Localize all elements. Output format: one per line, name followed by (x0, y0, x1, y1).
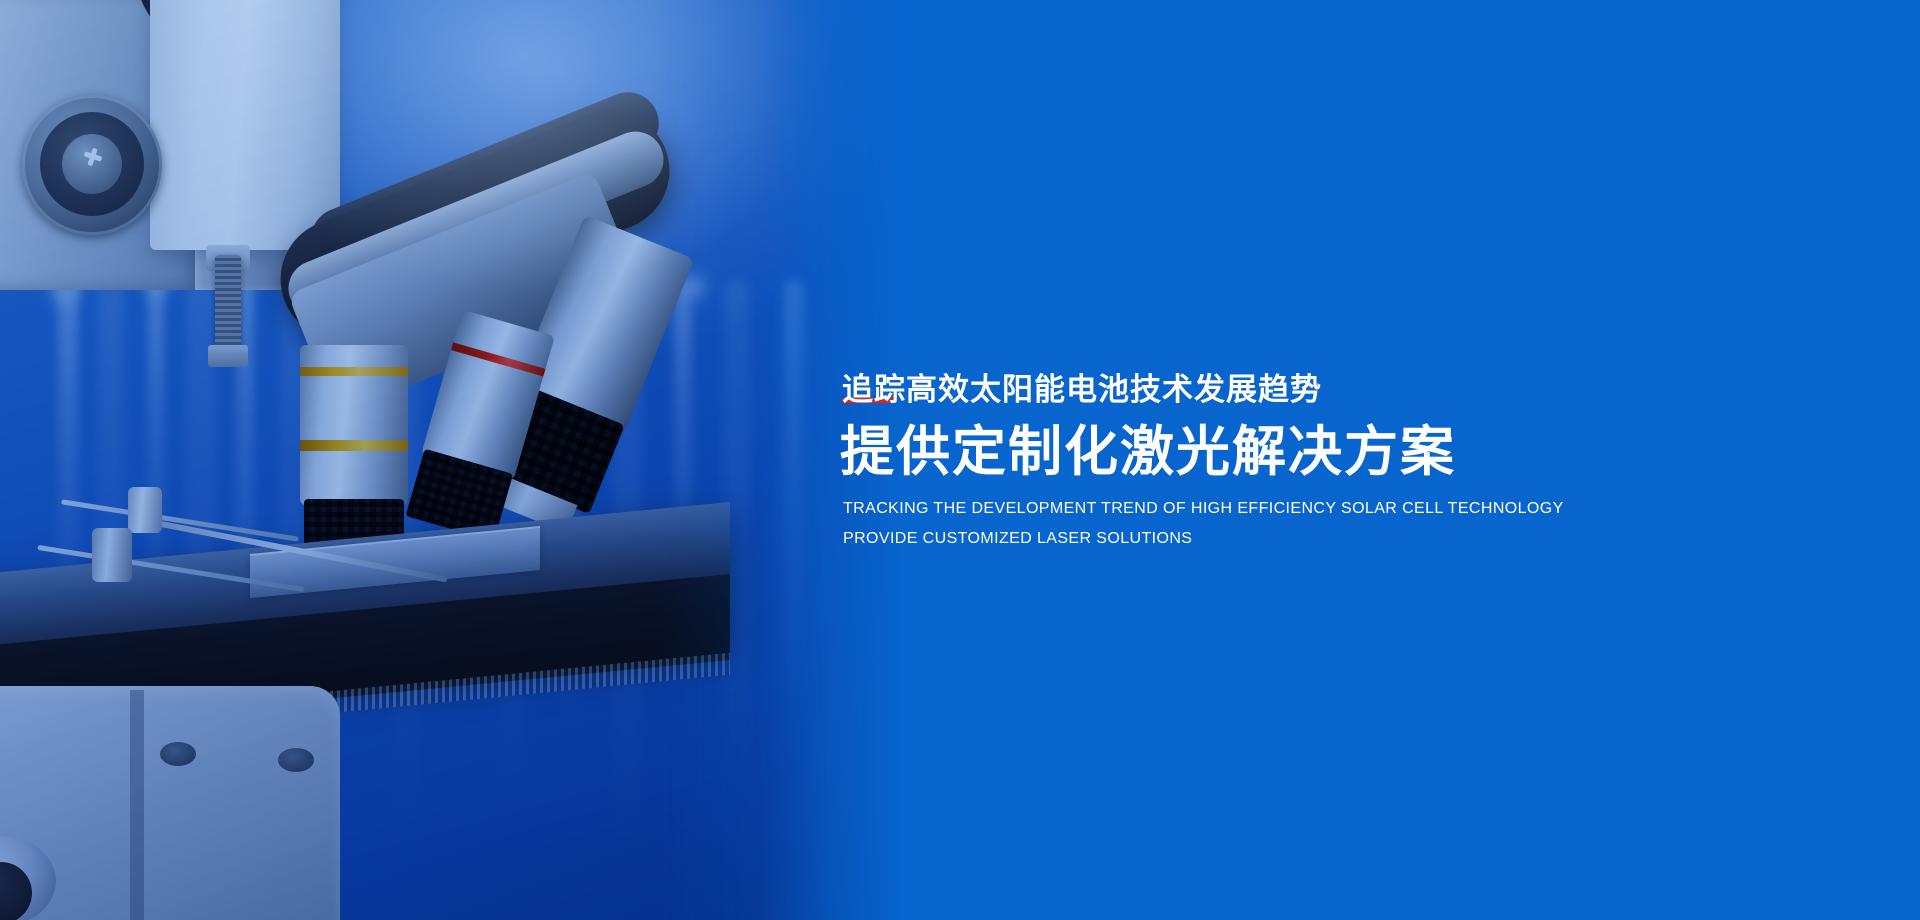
hero-headline-en: PROVIDE CUSTOMIZED LASER SOLUTIONS (843, 530, 1192, 548)
hero-banner: 追踪高效太阳能电池技术发展趋势 提供定制化激光解决方案 TRACKING THE… (0, 0, 1920, 920)
photo-highlight-glow (0, 0, 900, 920)
hero-subtitle-zh: 追踪高效太阳能电池技术发展趋势 (842, 374, 1742, 405)
microscope-photo (0, 0, 900, 920)
hero-headline-zh: 提供定制化激光解决方案 (840, 424, 1740, 481)
hero-subtitle-en: TRACKING THE DEVELOPMENT TREND OF HIGH E… (843, 500, 1564, 518)
hero-text-block: 追踪高效太阳能电池技术发展趋势 提供定制化激光解决方案 TRACKING THE… (842, 0, 1920, 920)
